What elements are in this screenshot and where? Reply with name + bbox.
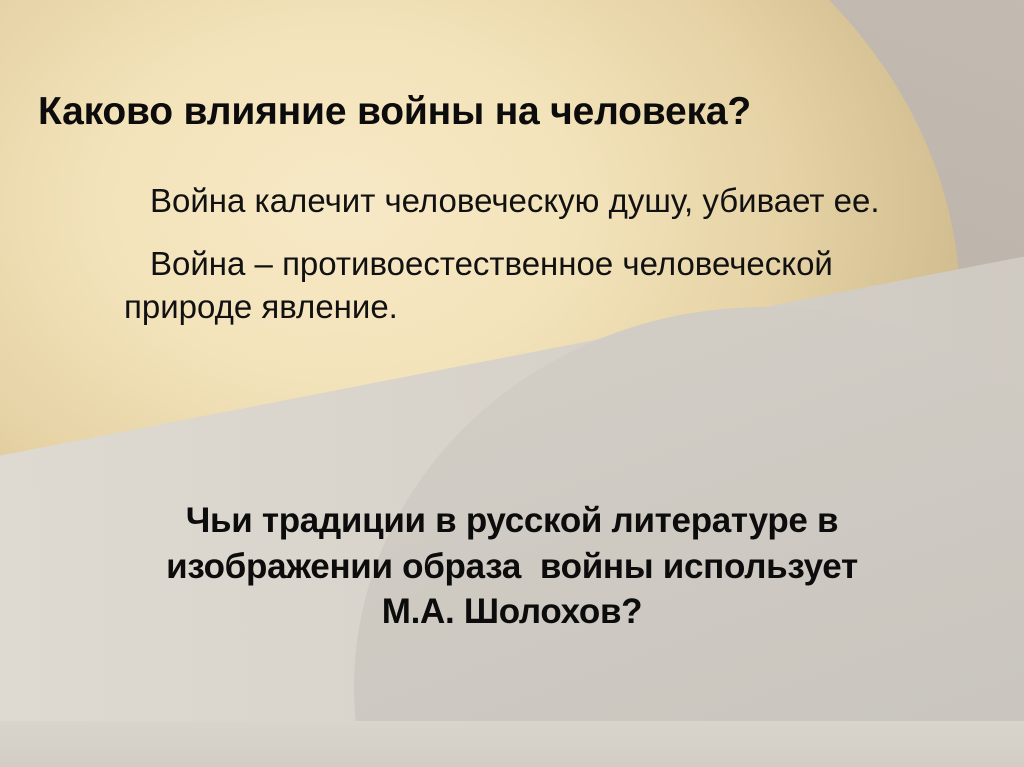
question-line: Чьи традиции в русской литературе в <box>50 498 974 544</box>
body-paragraph: Война калечит человеческую душу, убивает… <box>124 180 914 223</box>
question-line: изображении образа войны использует <box>50 544 974 590</box>
body-paragraph: Война – противоестественное человеческой… <box>124 243 914 329</box>
slide-content: Каково влияние войны на человека? Война … <box>0 0 1024 767</box>
closing-question: Чьи традиции в русской литературе в изоб… <box>50 498 974 635</box>
slide-body: Война калечит человеческую душу, убивает… <box>124 180 914 349</box>
presentation-slide: Каково влияние войны на человека? Война … <box>0 0 1024 767</box>
slide-title: Каково влияние войны на человека? <box>38 90 988 134</box>
question-line: М.А. Шолохов? <box>50 589 974 635</box>
